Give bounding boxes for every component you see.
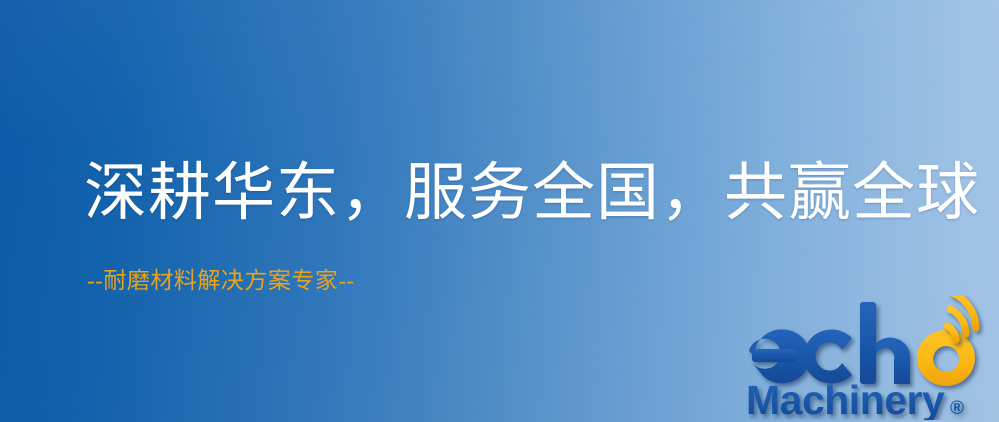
logo-letter-e (749, 329, 810, 383)
logo-letter-h (860, 302, 910, 384)
logo-wordmark-ech-group (749, 302, 910, 384)
logo-letter-c (804, 330, 852, 384)
hero-banner: 深耕华东，服务全国，共赢全球 --耐磨材料解决方案专家-- (0, 0, 999, 422)
banner-subtitle: --耐磨材料解决方案专家-- (87, 266, 355, 296)
logo-tagline-text: Machinery (746, 377, 945, 420)
logo-tagline-group: Machinery ® (746, 377, 964, 420)
banner-headline: 深耕华东，服务全国，共赢全球 (84, 155, 980, 231)
logo-signal-arcs (947, 296, 976, 340)
logo-registered-mark: ® (950, 398, 964, 419)
echo-machinery-logo[interactable]: Machinery ® echo Machinery ® (742, 296, 992, 420)
